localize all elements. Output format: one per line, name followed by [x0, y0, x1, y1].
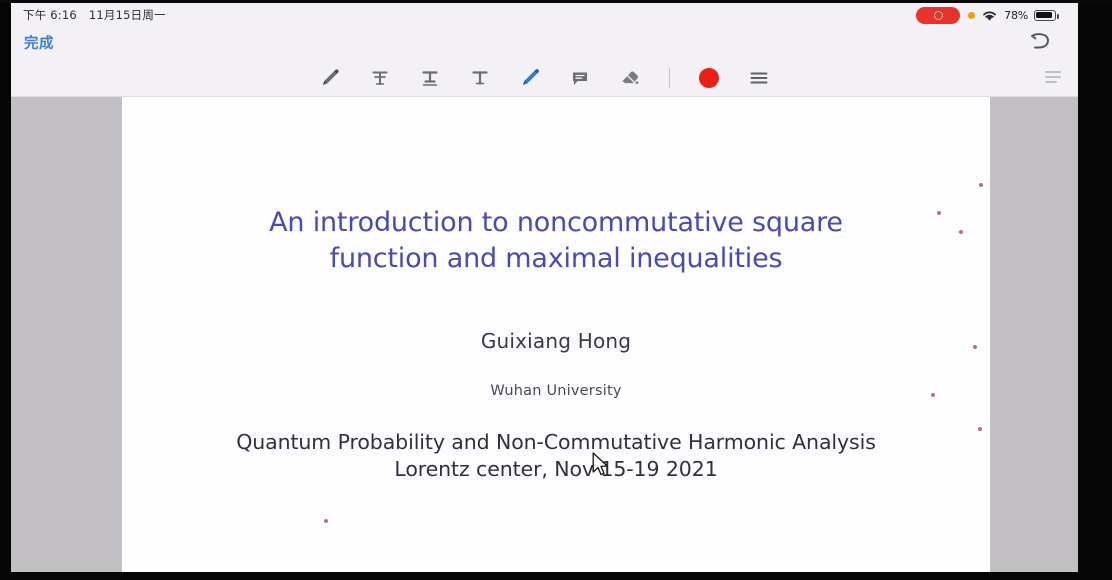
navigation-bar: 完成 — [11, 28, 1078, 58]
slide-affiliation: Wuhan University — [122, 383, 990, 399]
undo-button[interactable] — [1028, 30, 1054, 54]
slide-title-line2: function and maximal inequalities — [122, 241, 990, 277]
screen-record-pill-icon[interactable] — [916, 7, 960, 24]
status-date: 11月15日周一 — [89, 7, 166, 23]
pen-tool-button[interactable] — [515, 62, 545, 94]
ink-dot — [937, 211, 941, 215]
slide-conference-line2: Lorentz center, Nov 15-19 2021 — [122, 456, 990, 483]
strikethrough-text-tool-button[interactable] — [365, 62, 395, 94]
wifi-icon — [981, 9, 998, 22]
ink-dot — [931, 393, 935, 397]
bezel-top — [0, 0, 1112, 3]
bezel-left — [0, 0, 11, 580]
status-bar: 下午 6:16 11月15日周一 78% — [11, 3, 1078, 28]
annotation-toolbar — [11, 58, 1078, 97]
document-reader-area[interactable]: An introduction to noncommutative square… — [11, 97, 1078, 572]
strikethrough-t-icon — [369, 67, 391, 89]
ink-dot — [978, 427, 982, 431]
pencil-icon — [319, 67, 341, 89]
ipad-screen-recording: An introduction to noncommutative square… — [0, 0, 1112, 580]
text-t-icon — [469, 67, 491, 89]
battery-percent-label: 78% — [1004, 9, 1028, 22]
color-swatch-button[interactable] — [694, 62, 724, 94]
slide-conference: Quantum Probability and Non-Commutative … — [122, 429, 990, 483]
slide-title: An introduction to noncommutative square… — [122, 205, 990, 277]
done-button[interactable]: 完成 — [24, 32, 54, 53]
record-ring — [934, 11, 943, 20]
ink-dot — [959, 230, 963, 234]
bezel-right — [1078, 0, 1112, 580]
list-lines-icon — [1042, 67, 1064, 87]
pdf-page[interactable]: An introduction to noncommutative square… — [122, 97, 990, 572]
blue-pen-icon — [519, 67, 541, 89]
color-circle-icon — [699, 68, 719, 88]
status-bar-right: 78% — [916, 5, 1056, 25]
status-time: 下午 6:16 — [23, 7, 77, 23]
toolbar-tools — [11, 58, 1078, 97]
outline-list-button[interactable] — [1042, 67, 1064, 87]
toolbar-separator — [11, 96, 1078, 97]
battery-fill — [1036, 12, 1052, 19]
ink-dot — [324, 519, 328, 523]
undo-arrow-icon — [1028, 30, 1054, 54]
underline-t-icon — [419, 67, 441, 89]
underline-text-tool-button[interactable] — [415, 62, 445, 94]
speech-bubble-icon — [569, 67, 591, 89]
hamburger-menu-icon — [748, 67, 770, 89]
comment-tool-button[interactable] — [565, 62, 595, 94]
bezel-bottom — [0, 572, 1112, 580]
slide-conference-line1: Quantum Probability and Non-Commutative … — [236, 430, 876, 454]
slide-title-line1: An introduction to noncommutative square — [269, 207, 843, 238]
slide-author: Guixiang Hong — [122, 329, 990, 353]
eraser-icon — [619, 67, 641, 89]
text-tool-button[interactable] — [465, 62, 495, 94]
eraser-tool-button[interactable] — [615, 62, 645, 94]
toolbar-divider — [669, 68, 670, 88]
ink-dot — [973, 345, 977, 349]
ink-dot — [979, 183, 983, 187]
pencil-tool-button[interactable] — [315, 62, 345, 94]
menu-button[interactable] — [744, 62, 774, 94]
status-bar-left: 下午 6:16 11月15日周一 — [23, 7, 166, 23]
battery-icon — [1034, 10, 1056, 21]
orange-privacy-dot-icon — [968, 12, 975, 19]
